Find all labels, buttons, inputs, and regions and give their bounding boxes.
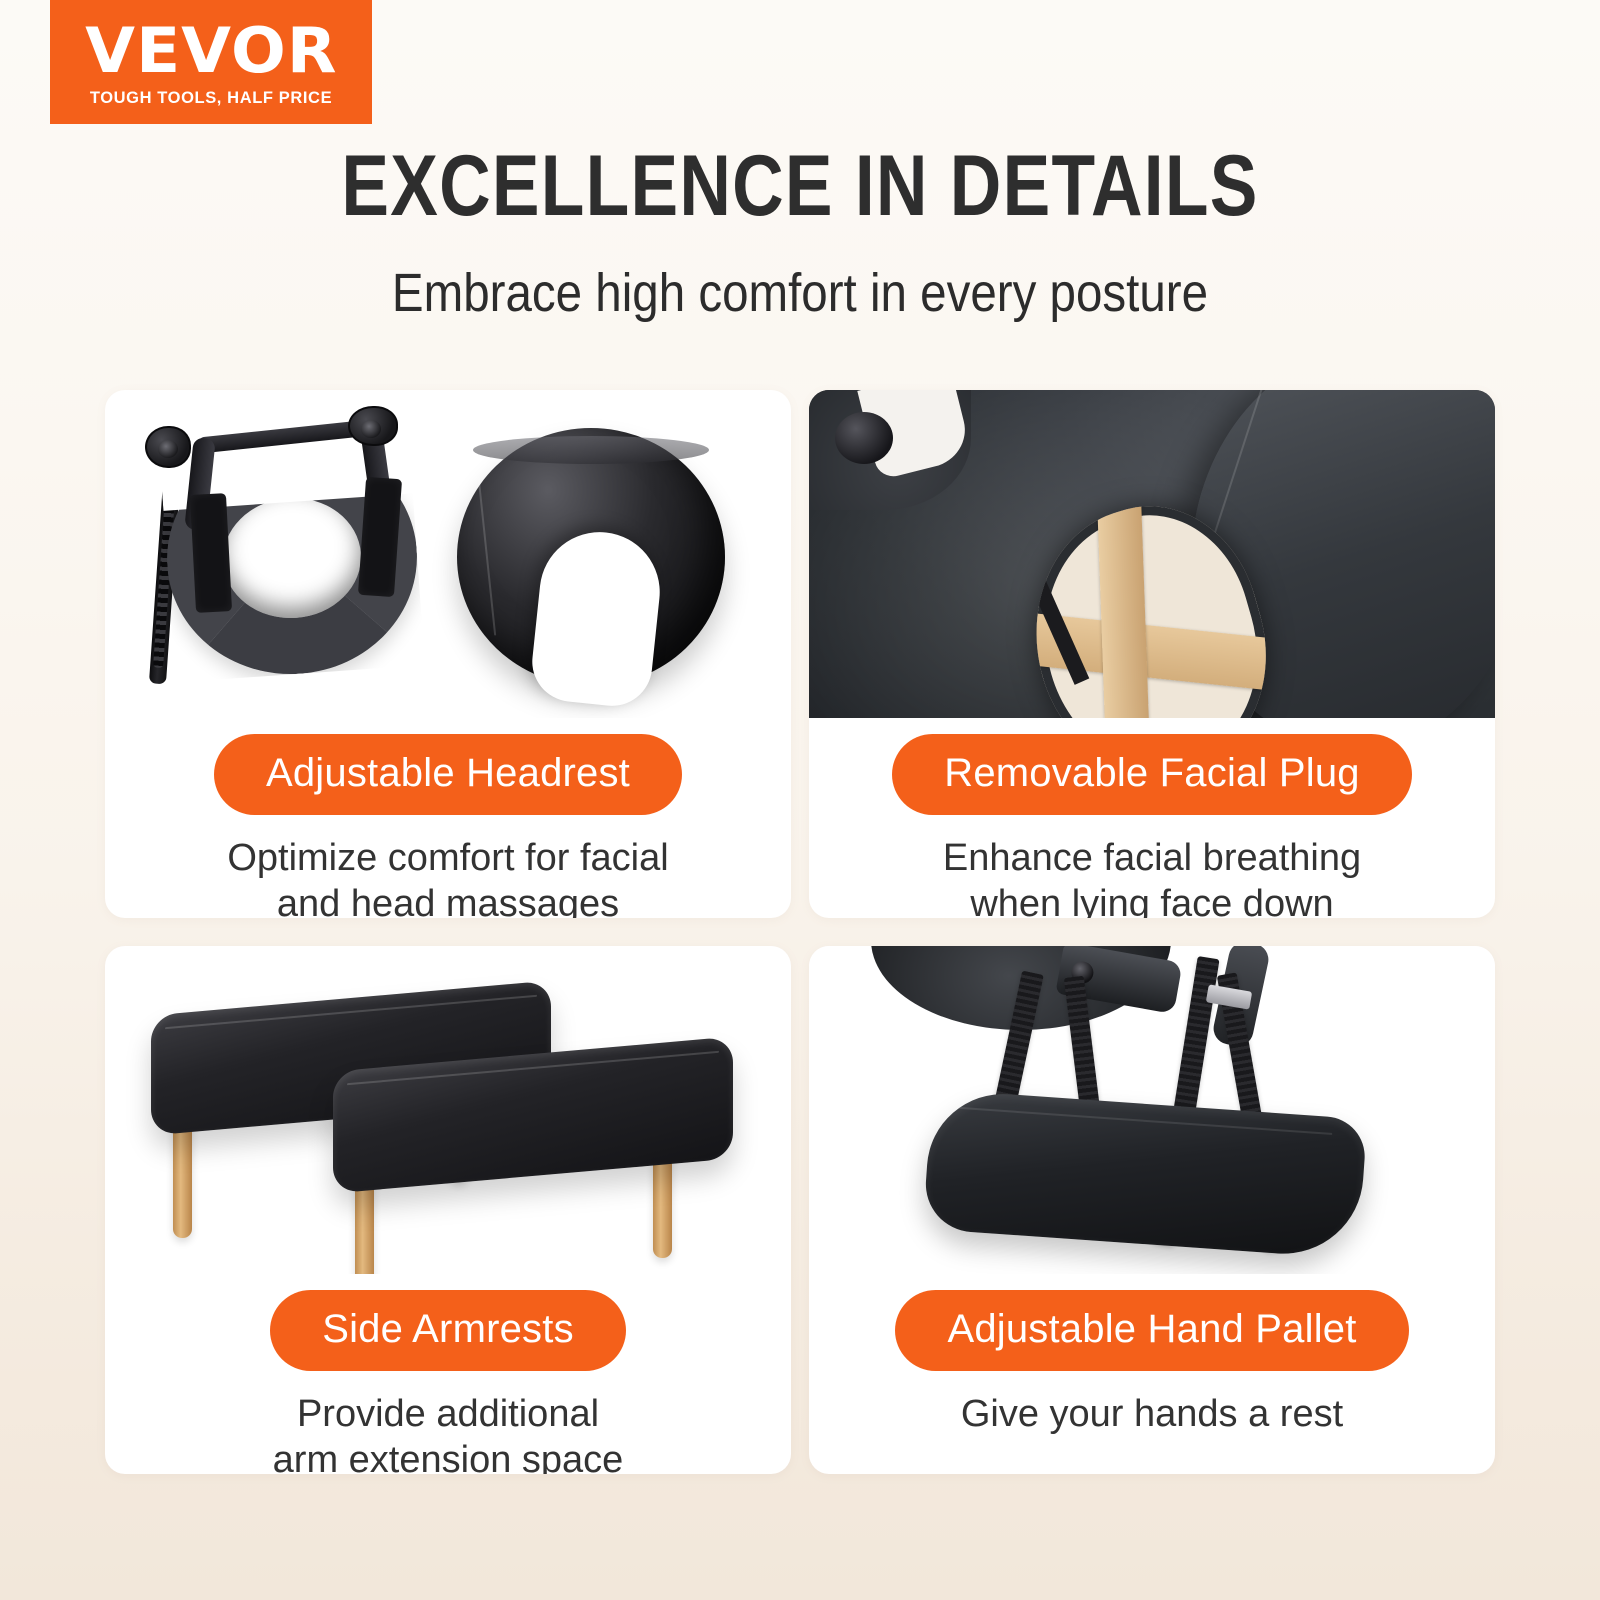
feature-description: Provide additional arm extension space <box>249 1391 648 1474</box>
brand-logo: VEVOR TOUGH TOOLS, HALF PRICE <box>50 0 372 124</box>
feature-badge: Adjustable Headrest <box>214 734 682 815</box>
feature-badge: Adjustable Hand Pallet <box>895 1290 1408 1371</box>
armrests-illustration <box>105 946 791 1274</box>
feature-card-removable-facial-plug: Removable Facial Plug Enhance facial bre… <box>809 390 1495 918</box>
brand-tagline: TOUGH TOOLS, HALF PRICE <box>90 89 332 108</box>
brand-name: VEVOR <box>85 22 337 81</box>
product-photo-headrest <box>105 390 791 718</box>
hand-pallet-board <box>923 1089 1368 1259</box>
adjust-knob-left-icon <box>145 426 191 468</box>
card-text-zone: Adjustable Hand Pallet Give your hands a… <box>809 1274 1495 1474</box>
headrest-illustration <box>105 390 791 718</box>
wood-beam-vertical <box>1097 490 1151 718</box>
page-title: EXCELLENCE IN DETAILS <box>136 143 1464 231</box>
table-face-hole-illustration <box>809 390 1495 718</box>
face-cushion <box>457 428 725 686</box>
product-photo-hand-pallet <box>809 946 1495 1274</box>
frame-knob-icon <box>835 412 893 464</box>
feature-card-adjustable-headrest: Adjustable Headrest Optimize comfort for… <box>105 390 791 918</box>
hand-pallet-illustration <box>809 946 1495 1274</box>
feature-description: Enhance facial breathing when lying face… <box>919 835 1385 918</box>
adjust-knob-right-icon <box>348 406 398 446</box>
product-photo-armrests <box>105 946 791 1274</box>
feature-grid: Adjustable Headrest Optimize comfort for… <box>105 390 1495 1510</box>
feature-badge: Side Armrests <box>270 1290 626 1371</box>
feature-description: Optimize comfort for facial and head mas… <box>203 835 692 918</box>
card-text-zone: Removable Facial Plug Enhance facial bre… <box>809 718 1495 918</box>
page-subtitle: Embrace high comfort in every posture <box>96 262 1504 324</box>
card-text-zone: Side Armrests Provide additional arm ext… <box>105 1274 791 1474</box>
product-photo-facial-plug <box>809 390 1495 718</box>
feature-card-side-armrests: Side Armrests Provide additional arm ext… <box>105 946 791 1474</box>
feature-description: Give your hands a rest <box>937 1391 1367 1437</box>
feature-badge: Removable Facial Plug <box>892 734 1412 815</box>
feature-card-adjustable-hand-pallet: Adjustable Hand Pallet Give your hands a… <box>809 946 1495 1474</box>
velcro-strip-left <box>190 493 232 613</box>
card-text-zone: Adjustable Headrest Optimize comfort for… <box>105 718 791 918</box>
